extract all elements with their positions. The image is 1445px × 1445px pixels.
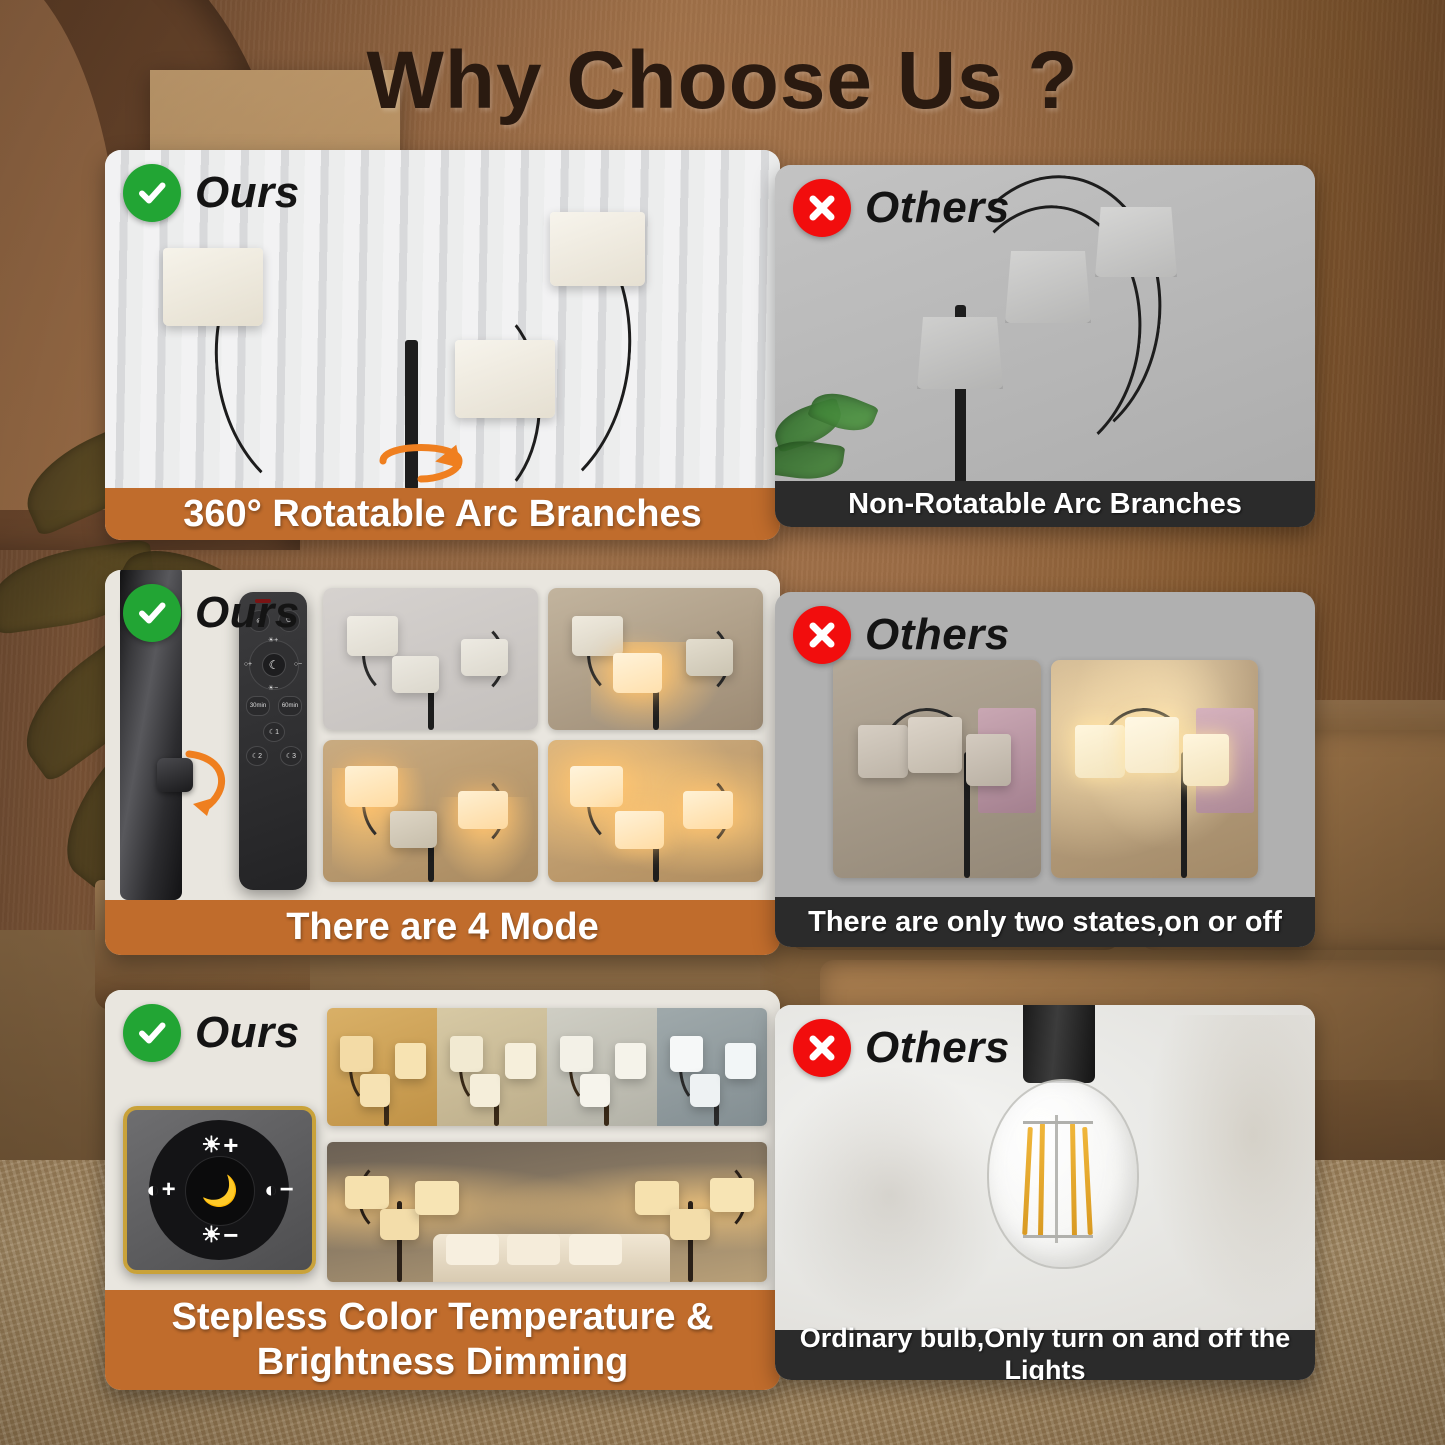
brightness-down-symbol[interactable]: ☀− [183,1222,257,1248]
caption-ours-modes: There are 4 Mode [105,900,780,955]
thumbnail-mode-warm [323,740,538,882]
bulb-socket [1023,1005,1095,1083]
badge-ours-dimming: Ours [123,1004,300,1062]
thumbnail-mode-partial [548,588,763,730]
swatch-warm-white [437,1008,547,1126]
badge-label-ours: Ours [195,591,300,635]
rotation-arrow-icon [373,425,469,487]
check-circle-icon [123,164,181,222]
caption-others-dimming: Ordinary bulb,Only turn on and off the L… [775,1330,1315,1380]
cross-circle-icon [793,179,851,237]
badge-others-rotatable: Others [793,179,1010,237]
mode-thumbnail-grid [323,588,763,882]
panel-others-rotatable: Others Non-Rotatable Arc Branches [775,165,1315,527]
cross-circle-icon [793,606,851,664]
thumbnail-state-off [833,660,1041,878]
room-scene-thumbnail [327,1142,767,1282]
brightness-down-button[interactable]: ☀− [266,682,280,694]
thumbnail-mode-off [323,588,538,730]
badge-ours-rotatable: Ours [123,164,300,222]
check-circle-icon [123,1004,181,1062]
thumbnail-state-on [1051,660,1259,878]
moon-icon: 🌙 [201,1174,238,1209]
badge-ours-modes: Ours [123,584,300,642]
panel-others-modes: Others There are only two states,on or o… [775,592,1315,947]
temp-down-button[interactable]: ○− [291,658,305,670]
night-mode-button[interactable]: ☾ [262,653,286,677]
bulb-filament-group [1023,1115,1095,1243]
preset-2-button[interactable]: ☾2 [246,746,268,766]
preset-3-button[interactable]: ☾3 [280,746,302,766]
panel-ours-modes: ⊜ ⏻ ☾ ☀+ ☀− ○+ ○− 30min 60min ☾1 ☾2 ☾3 [105,570,780,955]
caption-others-rotatable: Non-Rotatable Arc Branches [775,481,1315,527]
swatch-cool-white [657,1008,767,1126]
swatch-warm-amber [327,1008,437,1126]
check-circle-icon [123,584,181,642]
panel-ours-dimming: 🌙 ☀+ ☀− ◐+ ◐− [105,990,780,1390]
panel-ours-rotatable: Ours 360° Rotatable Arc Branches [105,150,780,540]
badge-label-ours: Ours [195,1011,300,1055]
temp-up-button[interactable]: ○+ [241,658,255,670]
temperature-swatch-strip [327,1008,767,1126]
page-title: Why Choose Us ? [0,34,1445,128]
badge-label-others: Others [865,613,1010,657]
timer-30-button[interactable]: 30min [246,696,270,716]
thumbnail-mode-all-on [548,740,763,882]
badge-others-modes: Others [793,606,1010,664]
badge-label-others: Others [865,1026,1010,1070]
caption-others-modes: There are only two states,on or off [775,897,1315,947]
preset-1-button[interactable]: ☾1 [263,722,285,742]
state-thumbnail-grid [833,660,1258,878]
color-temp-up-symbol[interactable]: ◐+ [133,1177,189,1203]
badge-others-dimming: Others [793,1019,1010,1077]
timer-60-button[interactable]: 60min [278,696,302,716]
rotation-arrow-icon [183,746,241,822]
cross-circle-icon [793,1019,851,1077]
badge-label-ours: Ours [195,171,300,215]
color-temp-down-symbol[interactable]: ◐− [251,1177,307,1203]
caption-ours-rotatable: 360° Rotatable Arc Branches [105,488,780,540]
panel-others-dimming: Others Ordinary bulb,Only turn on and of… [775,1005,1315,1380]
dimmer-knob-icon[interactable]: 🌙 ☀+ ☀− ◐+ ◐− [123,1106,316,1274]
swatch-neutral-white [547,1008,657,1126]
badge-label-others: Others [865,186,1010,230]
brightness-up-symbol[interactable]: ☀+ [183,1132,257,1158]
caption-ours-dimming: Stepless Color Temperature & Brightness … [105,1290,780,1390]
